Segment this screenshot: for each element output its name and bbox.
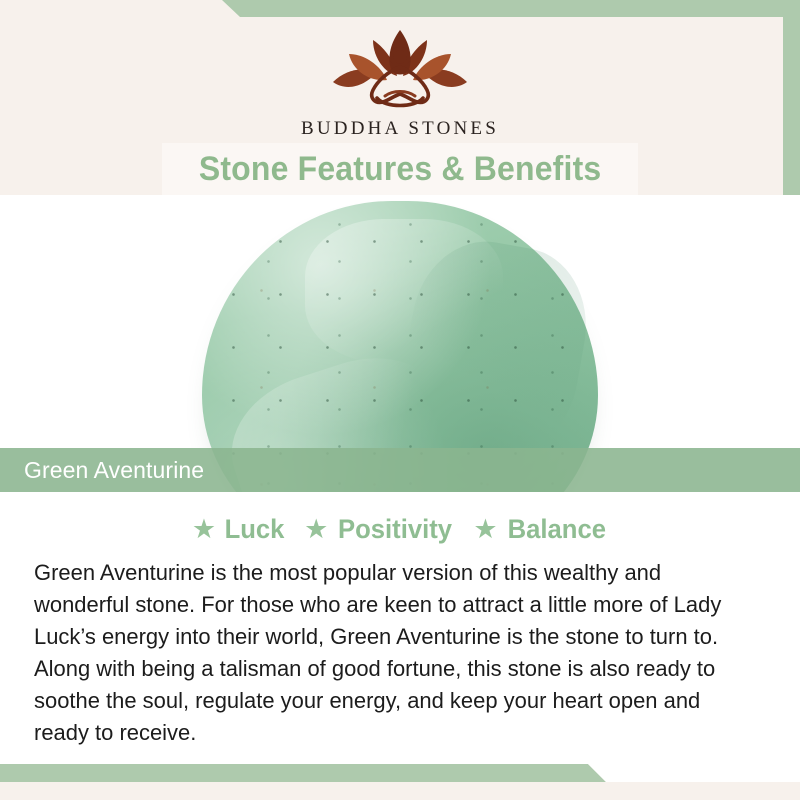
description-paragraph: Green Aventurine is the most popular ver… (34, 557, 757, 749)
product-name-band: Green Aventurine (0, 448, 800, 492)
feature-label: Balance (507, 514, 605, 545)
feature-list: ★ Luck ★ Positivity ★ Balance (0, 492, 800, 545)
title-banner: Stone Features & Benefits (162, 143, 638, 195)
star-icon: ★ (304, 516, 328, 543)
feature-item-balance: ★ Balance (473, 514, 608, 545)
page-title: Stone Features & Benefits (199, 150, 602, 189)
brand-name: BUDDHA STONES (301, 118, 499, 140)
feature-label: Positivity (338, 514, 452, 545)
brand-logo: BUDDHA STONES (0, 24, 800, 140)
infographic-page: BUDDHA STONES Stone Features & Benefits … (0, 0, 800, 800)
feature-item-luck: ★ Luck (192, 514, 286, 545)
content-section: ★ Luck ★ Positivity ★ Balance Green Aven… (0, 492, 800, 764)
star-icon: ★ (192, 516, 216, 543)
feature-label: Luck (225, 514, 285, 545)
lotus-meditation-figure-icon (315, 24, 485, 116)
star-icon: ★ (473, 516, 497, 543)
product-name: Green Aventurine (24, 457, 204, 484)
feature-item-positivity: ★ Positivity (304, 514, 455, 545)
